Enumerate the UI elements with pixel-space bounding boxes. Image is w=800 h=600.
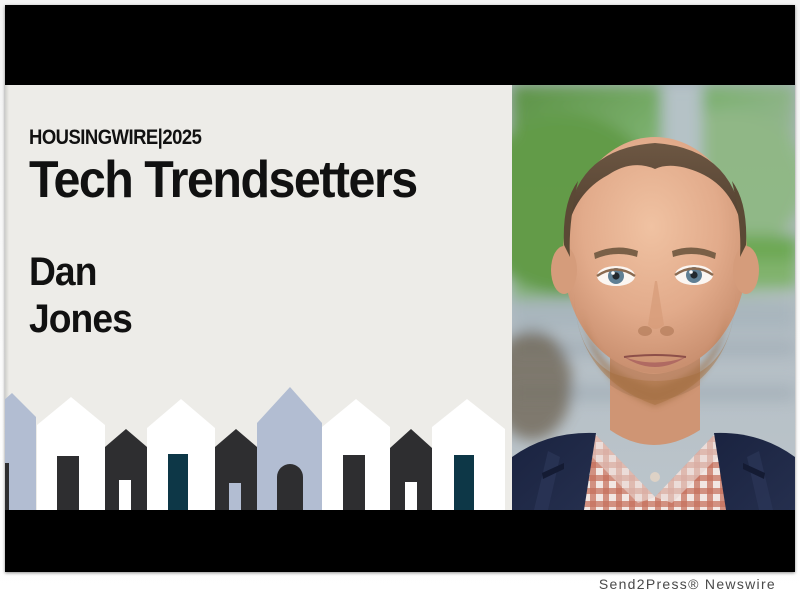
headshot-photo-svg [512,85,795,510]
honoree-name: Dan Jones [29,249,466,343]
brand-year-line: HOUSINGWIRE|2025 [29,127,443,148]
door-teal-2 [454,455,474,510]
shirt-button [650,472,660,482]
house-dark-2 [215,429,257,510]
door-teal-1 [168,454,188,510]
house-dark-1 [105,429,147,510]
house-skyline-svg [5,385,512,510]
house-white-2 [147,399,215,510]
window-white-2 [405,482,417,510]
window-white-1 [119,480,131,510]
card-text-block: HOUSINGWIRE|2025 Tech Trendsetters Dan J… [29,127,499,343]
honoree-first-name: Dan [29,249,466,296]
headshot-photo [512,85,795,510]
honoree-last-name: Jones [29,296,466,343]
window-blue-1 [229,483,241,510]
award-title: Tech Trendsetters [29,154,466,207]
door-dark-2 [343,455,365,510]
award-card: HOUSINGWIRE|2025 Tech Trendsetters Dan J… [5,85,512,510]
screenshot-root: HOUSINGWIRE|2025 Tech Trendsetters Dan J… [0,0,800,600]
door-arched-dark [277,464,303,510]
eye-left [597,266,635,286]
house-dark-3 [390,429,432,510]
door-dark-1 [57,456,79,510]
graphic-frame: HOUSINGWIRE|2025 Tech Trendsetters Dan J… [5,5,795,572]
house-white-4 [432,399,505,510]
eye-right [675,265,713,285]
house-white-1 [37,397,105,510]
house-sliver-dark [5,463,9,510]
house-skyline-graphic [5,385,512,510]
house-blue-gray-left [5,393,36,510]
newswire-credit: Send2Press® Newswire [0,576,800,592]
house-white-3 [322,399,390,510]
house-blue-gray-tall [257,387,322,510]
